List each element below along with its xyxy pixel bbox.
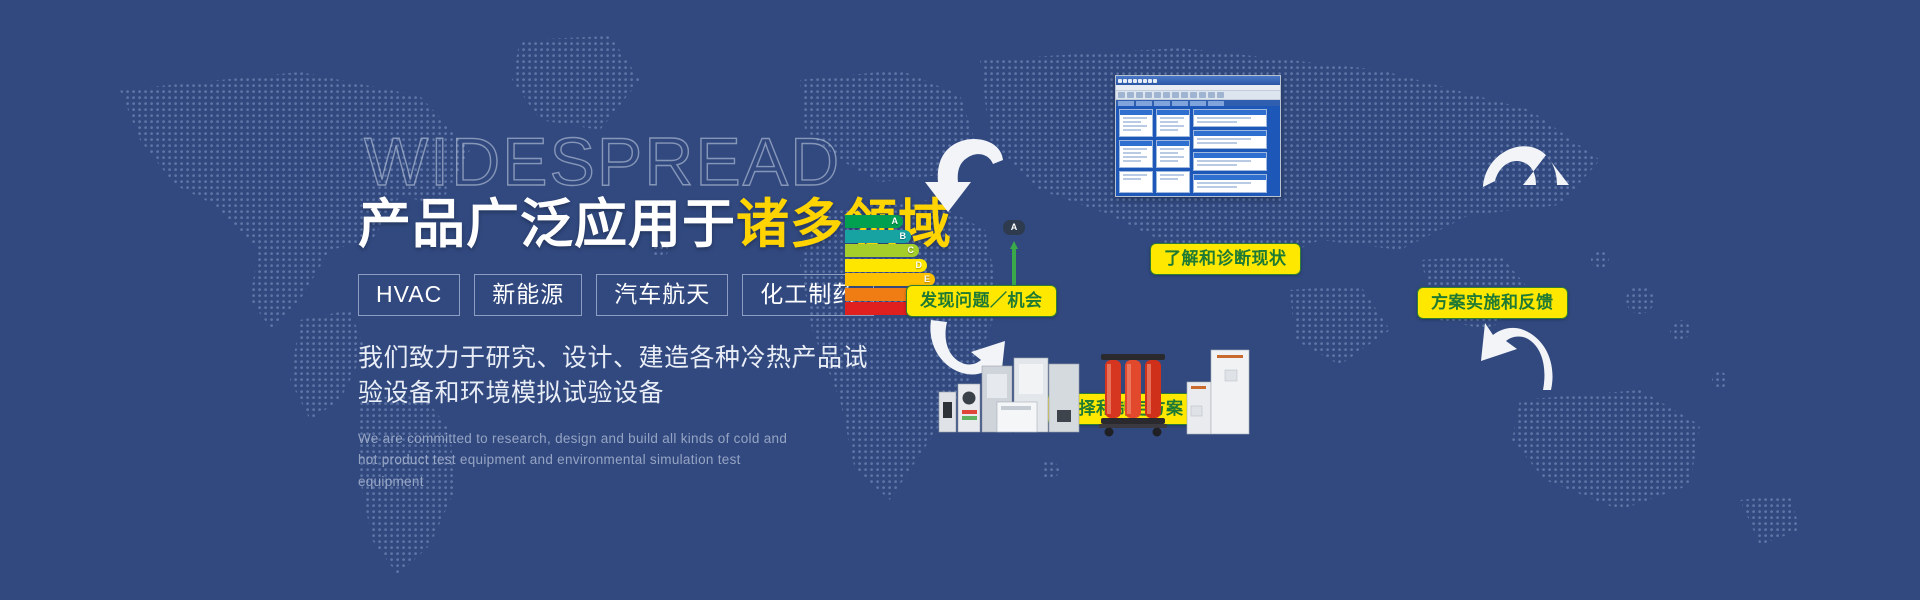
energy-grade-b: B [900, 232, 912, 241]
energy-top-grade-tag: A [1003, 220, 1026, 235]
software-screenshot [1115, 75, 1281, 197]
industry-tag-automotive-aerospace[interactable]: 汽车航天 [596, 274, 728, 316]
energy-grade-c: C [908, 246, 920, 255]
product-white-cabinets [1187, 350, 1249, 434]
app-titlebar [1116, 76, 1280, 85]
arrow-bottom-right-icon [1473, 305, 1568, 400]
arrow-top-right-icon [1475, 125, 1570, 215]
energy-grade-a: A [892, 217, 904, 226]
page-title: 产品广泛应用于诸多领域 [358, 194, 918, 257]
product-red-transformers [1099, 354, 1167, 437]
app-workspace [1116, 106, 1280, 196]
energy-arrow-head-icon [1010, 241, 1018, 249]
energy-bar-a: A [845, 215, 903, 228]
industry-tag-list: HVAC 新能源 汽车航天 化工制药 [358, 274, 918, 316]
industry-tag-hvac[interactable]: HVAC [358, 274, 460, 316]
energy-bar-b: B [845, 230, 911, 243]
energy-grade-e: E [924, 275, 935, 284]
energy-bar-c: C [845, 244, 919, 257]
energy-grade-d: D [916, 261, 928, 270]
description-chinese: 我们致力于研究、设计、建造各种冷热产品试验设备和环境模拟试验设备 [358, 341, 878, 412]
industry-tag-new-energy[interactable]: 新能源 [474, 274, 582, 316]
pdca-cycle-diagram: A B C D E F G A E [905, 40, 1920, 580]
outline-title: WIDESPREAD [364, 128, 918, 196]
hero-text-block: WIDESPREAD 产品广泛应用于诸多领域 HVAC 新能源 汽车航天 化工制… [358, 128, 918, 493]
product-drive-cabinets [939, 358, 1079, 432]
badge-implement-feedback[interactable]: 方案实施和反馈 [1417, 287, 1568, 319]
product-photo-group [935, 340, 1255, 440]
badge-diagnose-status[interactable]: 了解和诊断现状 [1150, 243, 1301, 275]
headline-white-part: 产品广泛应用于 [358, 195, 736, 254]
energy-bar-d: D [845, 259, 927, 272]
description-english: We are committed to research, design and… [358, 428, 788, 494]
arrow-top-left-icon [915, 130, 1010, 220]
badge-discover-problem[interactable]: 发现问题／机会 [906, 285, 1057, 317]
app-toolbar [1116, 91, 1280, 100]
energy-arrow-stem-icon [1012, 249, 1016, 285]
